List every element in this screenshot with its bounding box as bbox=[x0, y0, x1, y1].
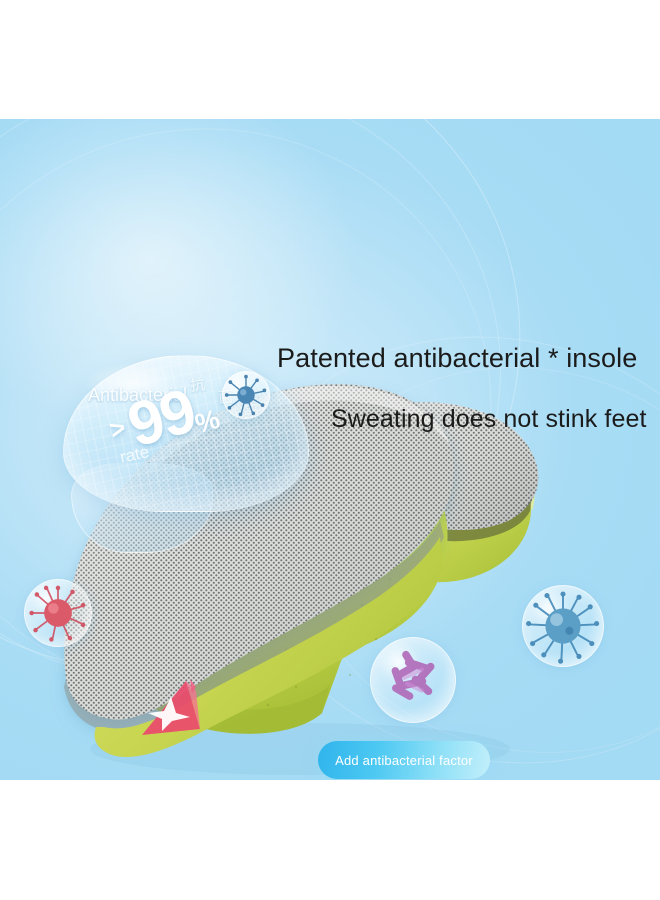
add-antibacterial-factor-button[interactable]: Add antibacterial factor bbox=[318, 741, 490, 779]
headline-secondary: Sweating does not stink feet bbox=[331, 405, 647, 434]
virus-bubble-right bbox=[522, 585, 604, 667]
virus-bubble-left bbox=[24, 579, 92, 647]
bacteria-bubble-mid bbox=[370, 637, 456, 723]
bacilli-purple-icon bbox=[371, 638, 455, 722]
product-image-page: Antibacterial 抗 菌 率 > 99 % rate bbox=[0, 0, 660, 900]
product-banner: Antibacterial 抗 菌 率 > 99 % rate bbox=[0, 119, 660, 780]
headline-primary: Patented antibacterial * insole bbox=[277, 343, 637, 374]
cn-char-kang: 抗 bbox=[185, 376, 207, 393]
virus-blue-small-icon bbox=[223, 372, 269, 418]
virus-blue-large-icon bbox=[523, 586, 603, 666]
virus-red-icon bbox=[25, 580, 91, 646]
virus-bubble-top bbox=[222, 371, 270, 419]
